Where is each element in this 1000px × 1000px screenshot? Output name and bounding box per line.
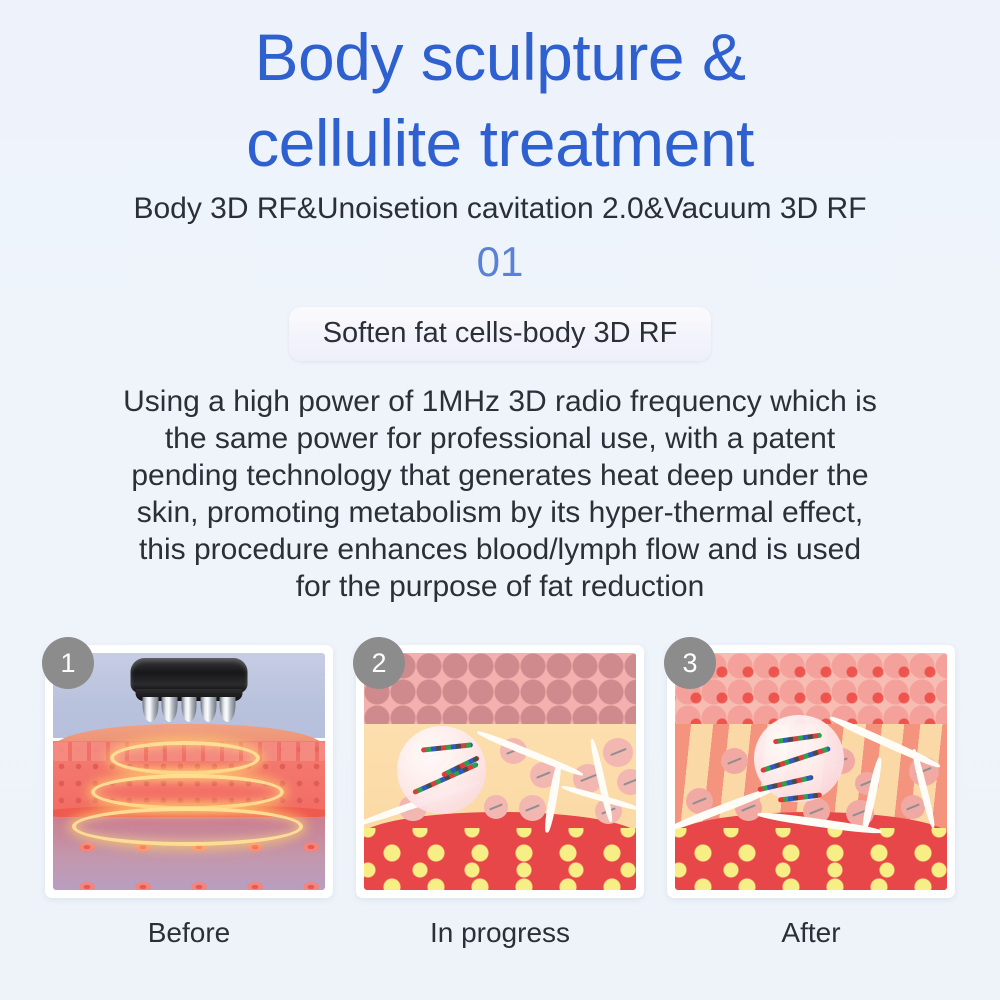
figure-badge-2: 2: [353, 637, 405, 689]
heat-ring-icon: [72, 807, 303, 846]
cavitation-bubble-icon: [397, 726, 487, 814]
feature-pill-label: Soften fat cells-body 3D RF: [289, 307, 712, 361]
figure-item: 2 In progress: [356, 645, 644, 955]
figure-image-1: [53, 653, 325, 890]
figure-item: 3 After: [667, 645, 955, 955]
figure-caption-1: Before: [45, 916, 333, 950]
promo-page: Body sculpture & cellulite treatment Bod…: [0, 0, 1000, 1000]
rf-applicator-icon: [131, 658, 248, 720]
figure-image-2: [364, 653, 636, 890]
feature-description: Using a high power of 1MHz 3D radio freq…: [120, 383, 880, 605]
figure-image-3: [675, 653, 947, 890]
figure-caption-3: After: [667, 916, 955, 950]
page-subtitle: Body 3D RF&Unoisetion cavitation 2.0&Vac…: [0, 190, 1000, 228]
pill-badge-container: Soften fat cells-body 3D RF: [0, 307, 1000, 361]
applicator-prongs-icon: [142, 697, 236, 722]
figure-card-3: 3: [667, 645, 955, 898]
figure-badge-3: 3: [664, 637, 716, 689]
figure-item: 1 Before: [45, 645, 333, 955]
heat-ring-icon: [110, 741, 259, 775]
page-title: Body sculpture & cellulite treatment: [0, 14, 1000, 186]
figure-card-1: 1: [45, 645, 333, 898]
step-number: 01: [0, 235, 1000, 289]
fat-globules-icon: [675, 828, 947, 890]
heat-ring-icon: [91, 774, 284, 810]
figure-row: 1 Before: [45, 645, 955, 955]
figure-caption-2: In progress: [356, 916, 644, 950]
figure-badge-1: 1: [42, 637, 94, 689]
fat-globules-icon: [364, 828, 636, 890]
figure-card-2: 2: [356, 645, 644, 898]
